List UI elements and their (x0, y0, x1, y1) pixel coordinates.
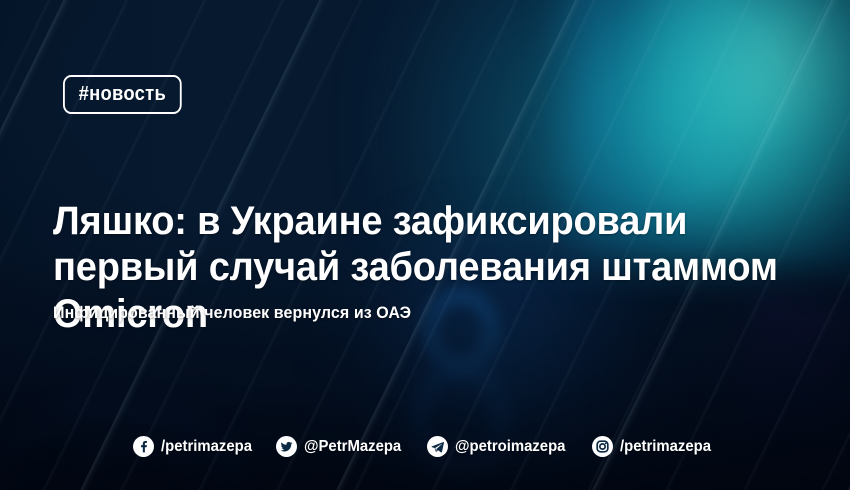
social-link-twitter[interactable]: @PetrMazepa (276, 436, 409, 457)
instagram-icon (592, 436, 613, 457)
social-link-instagram[interactable]: /petrimazepa (592, 436, 718, 457)
social-link-facebook[interactable]: /petrimazepa (133, 436, 259, 457)
subtitle: Инфицированный человек вернулся из ОАЭ (53, 303, 411, 323)
card-content: #новость Ляшко: в Украине зафиксировали … (0, 0, 850, 490)
social-handle-twitter: @PetrMazepa (304, 438, 401, 456)
facebook-icon (133, 436, 154, 457)
news-social-card: #новость Ляшко: в Украине зафиксировали … (0, 0, 850, 490)
social-handle-facebook: /petrimazepa (161, 438, 252, 456)
telegram-icon (427, 436, 448, 457)
social-link-telegram[interactable]: @petroimazepa (427, 436, 574, 457)
category-badge[interactable]: #новость (63, 75, 182, 114)
twitter-icon (276, 436, 297, 457)
social-handle-telegram: @petroimazepa (455, 438, 565, 456)
social-links-bar: /petrimazepa @PetrMazepa @petroimazepa (0, 436, 850, 457)
social-handle-instagram: /petrimazepa (620, 438, 711, 456)
